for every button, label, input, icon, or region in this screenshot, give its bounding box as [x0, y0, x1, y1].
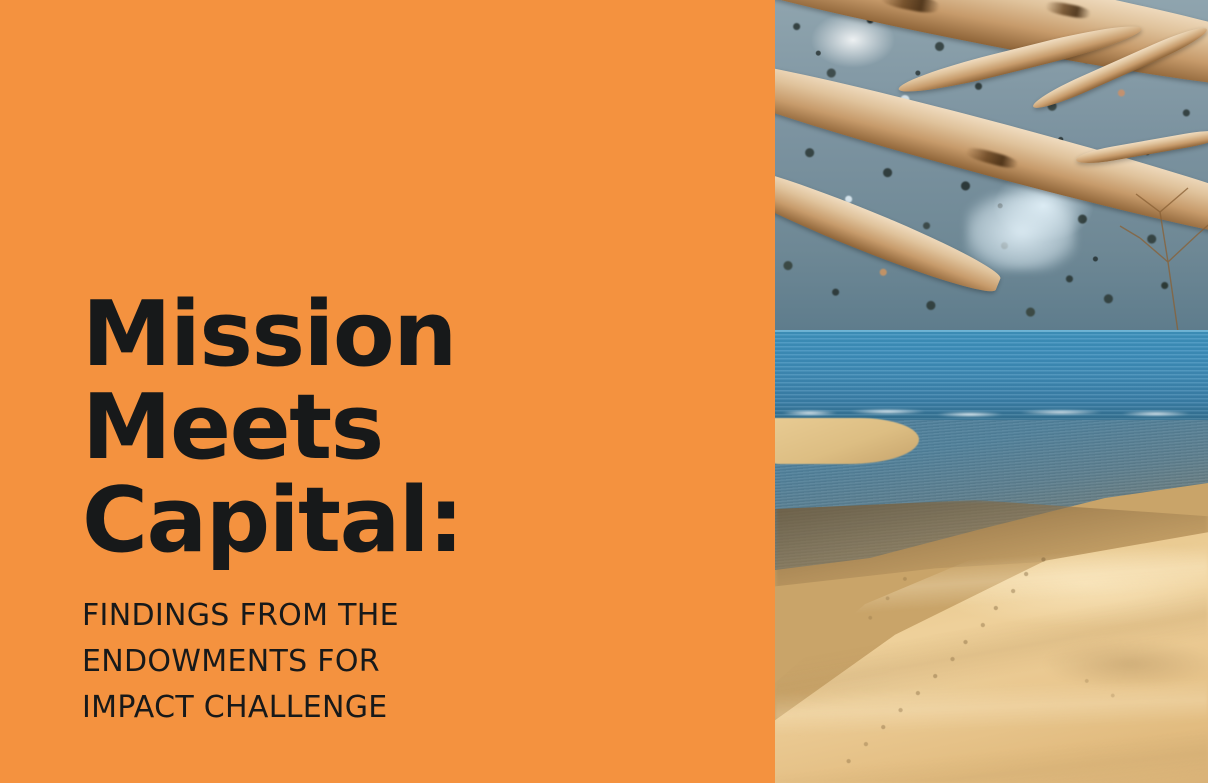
title-slide: Mission Meets Capital: FINDINGS FROM THE…	[0, 0, 1208, 783]
orange-text-panel: Mission Meets Capital: FINDINGS FROM THE…	[0, 0, 775, 783]
page-subtitle: FINDINGS FROM THE ENDOWMENTS FOR IMPACT …	[82, 593, 742, 731]
page-title: Mission Meets Capital:	[82, 288, 742, 567]
text-block: Mission Meets Capital: FINDINGS FROM THE…	[82, 288, 742, 731]
sand-shadow-patch	[1045, 640, 1208, 688]
sand-spit	[775, 418, 919, 464]
beach-photograph	[775, 0, 1208, 783]
horizon-line	[775, 330, 1208, 332]
bare-twigs-icon	[1028, 142, 1208, 332]
tree-canopy-region	[775, 0, 1208, 332]
